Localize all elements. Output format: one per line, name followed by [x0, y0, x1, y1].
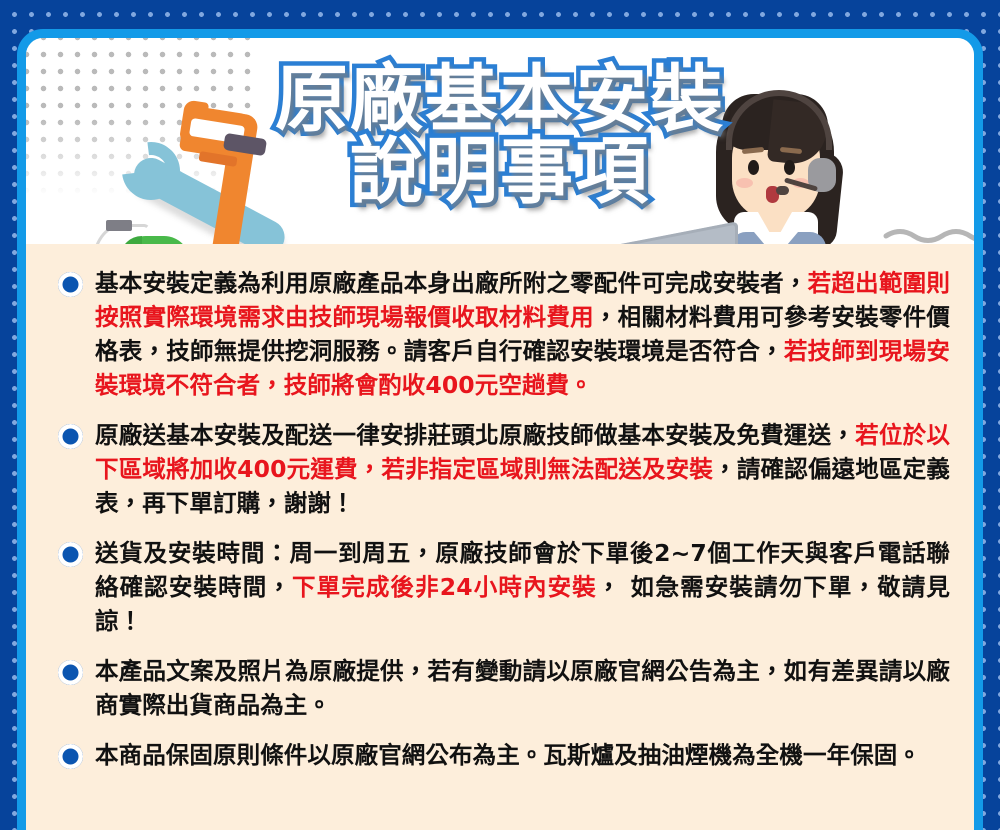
notice-text-plain: 原廠送基本安裝及配送一律安排莊頭北原廠技師做基本安裝及免費運送，: [95, 421, 855, 449]
notice-text: 基本安裝定義為利用原廠產品本身出廠所附之零配件可完成安裝者，若超出範圍則按照實際…: [95, 266, 950, 402]
notice-item: 本產品文案及照片為原廠提供，若有變動請以原廠官網公告為主，如有差異請以廠商實際出…: [50, 654, 950, 722]
poster-header: 原廠基本安裝 說明事項: [26, 38, 974, 244]
operator-cheek-left: [736, 178, 753, 188]
operator-eye-right: [784, 160, 795, 175]
notice-item: 基本安裝定義為利用原廠產品本身出廠所附之零配件可完成安裝者，若超出範圍則按照實際…: [50, 266, 950, 402]
tools-illustration: [98, 96, 328, 244]
notice-item: 本商品保固原則條件以原廠官網公布為主。瓦斯爐及抽油煙機為全機一年保固。: [50, 738, 950, 772]
bullet-point-icon: [58, 542, 83, 567]
operator-eye-left: [748, 160, 759, 175]
notice-item: 送貨及安裝時間：周一到周五，原廠技師會於下單後2~7個工作天與客戶電話聯絡確認安…: [50, 536, 950, 638]
customer-service-operator-illustration: [692, 82, 878, 244]
notice-text-plain: 本產品文案及照片為原廠提供，若有變動請以原廠官網公告為主，如有差異請以廠商實際出…: [95, 657, 950, 719]
bullet-point-icon: [58, 272, 83, 297]
bullet-point-icon: [58, 660, 83, 685]
laptop-icon: [606, 221, 738, 244]
notice-text-highlight: 下單完成後非24小時內安裝: [292, 573, 597, 601]
wave-lines-decoration: [882, 226, 974, 244]
promo-poster: 原廠基本安裝 說明事項 基本安裝定義為利用原廠產品本身出廠所附之零配件可完成安裝…: [0, 0, 1000, 830]
notice-text: 送貨及安裝時間：周一到周五，原廠技師會於下單後2~7個工作天與客戶電話聯絡確認安…: [95, 536, 950, 638]
tape-measure-clip-icon: [106, 220, 132, 231]
notice-item: 原廠送基本安裝及配送一律安排莊頭北原廠技師做基本安裝及免費運送，若位於以下區域將…: [50, 418, 950, 520]
bullet-point-icon: [58, 424, 83, 449]
poster-frame: 原廠基本安裝 說明事項 基本安裝定義為利用原廠產品本身出廠所附之零配件可完成安裝…: [17, 29, 983, 830]
notice-list: 基本安裝定義為利用原廠產品本身出廠所附之零配件可完成安裝者，若超出範圍則按照實際…: [26, 244, 974, 782]
notice-text: 原廠送基本安裝及配送一律安排莊頭北原廠技師做基本安裝及免費運送，若位於以下區域將…: [95, 418, 950, 520]
headset-mic-icon: [776, 186, 789, 195]
notice-text: 本商品保固原則條件以原廠官網公布為主。瓦斯爐及抽油煙機為全機一年保固。: [95, 738, 950, 772]
notice-text-plain: 基本安裝定義為利用原廠產品本身出廠所附之零配件可完成安裝者，: [95, 269, 808, 297]
notice-text: 本產品文案及照片為原廠提供，若有變動請以原廠官網公告為主，如有差異請以廠商實際出…: [95, 654, 950, 722]
notice-text-plain: 本商品保固原則條件以原廠官網公布為主。瓦斯爐及抽油煙機為全機一年保固。: [95, 741, 921, 769]
bullet-point-icon: [58, 744, 83, 769]
